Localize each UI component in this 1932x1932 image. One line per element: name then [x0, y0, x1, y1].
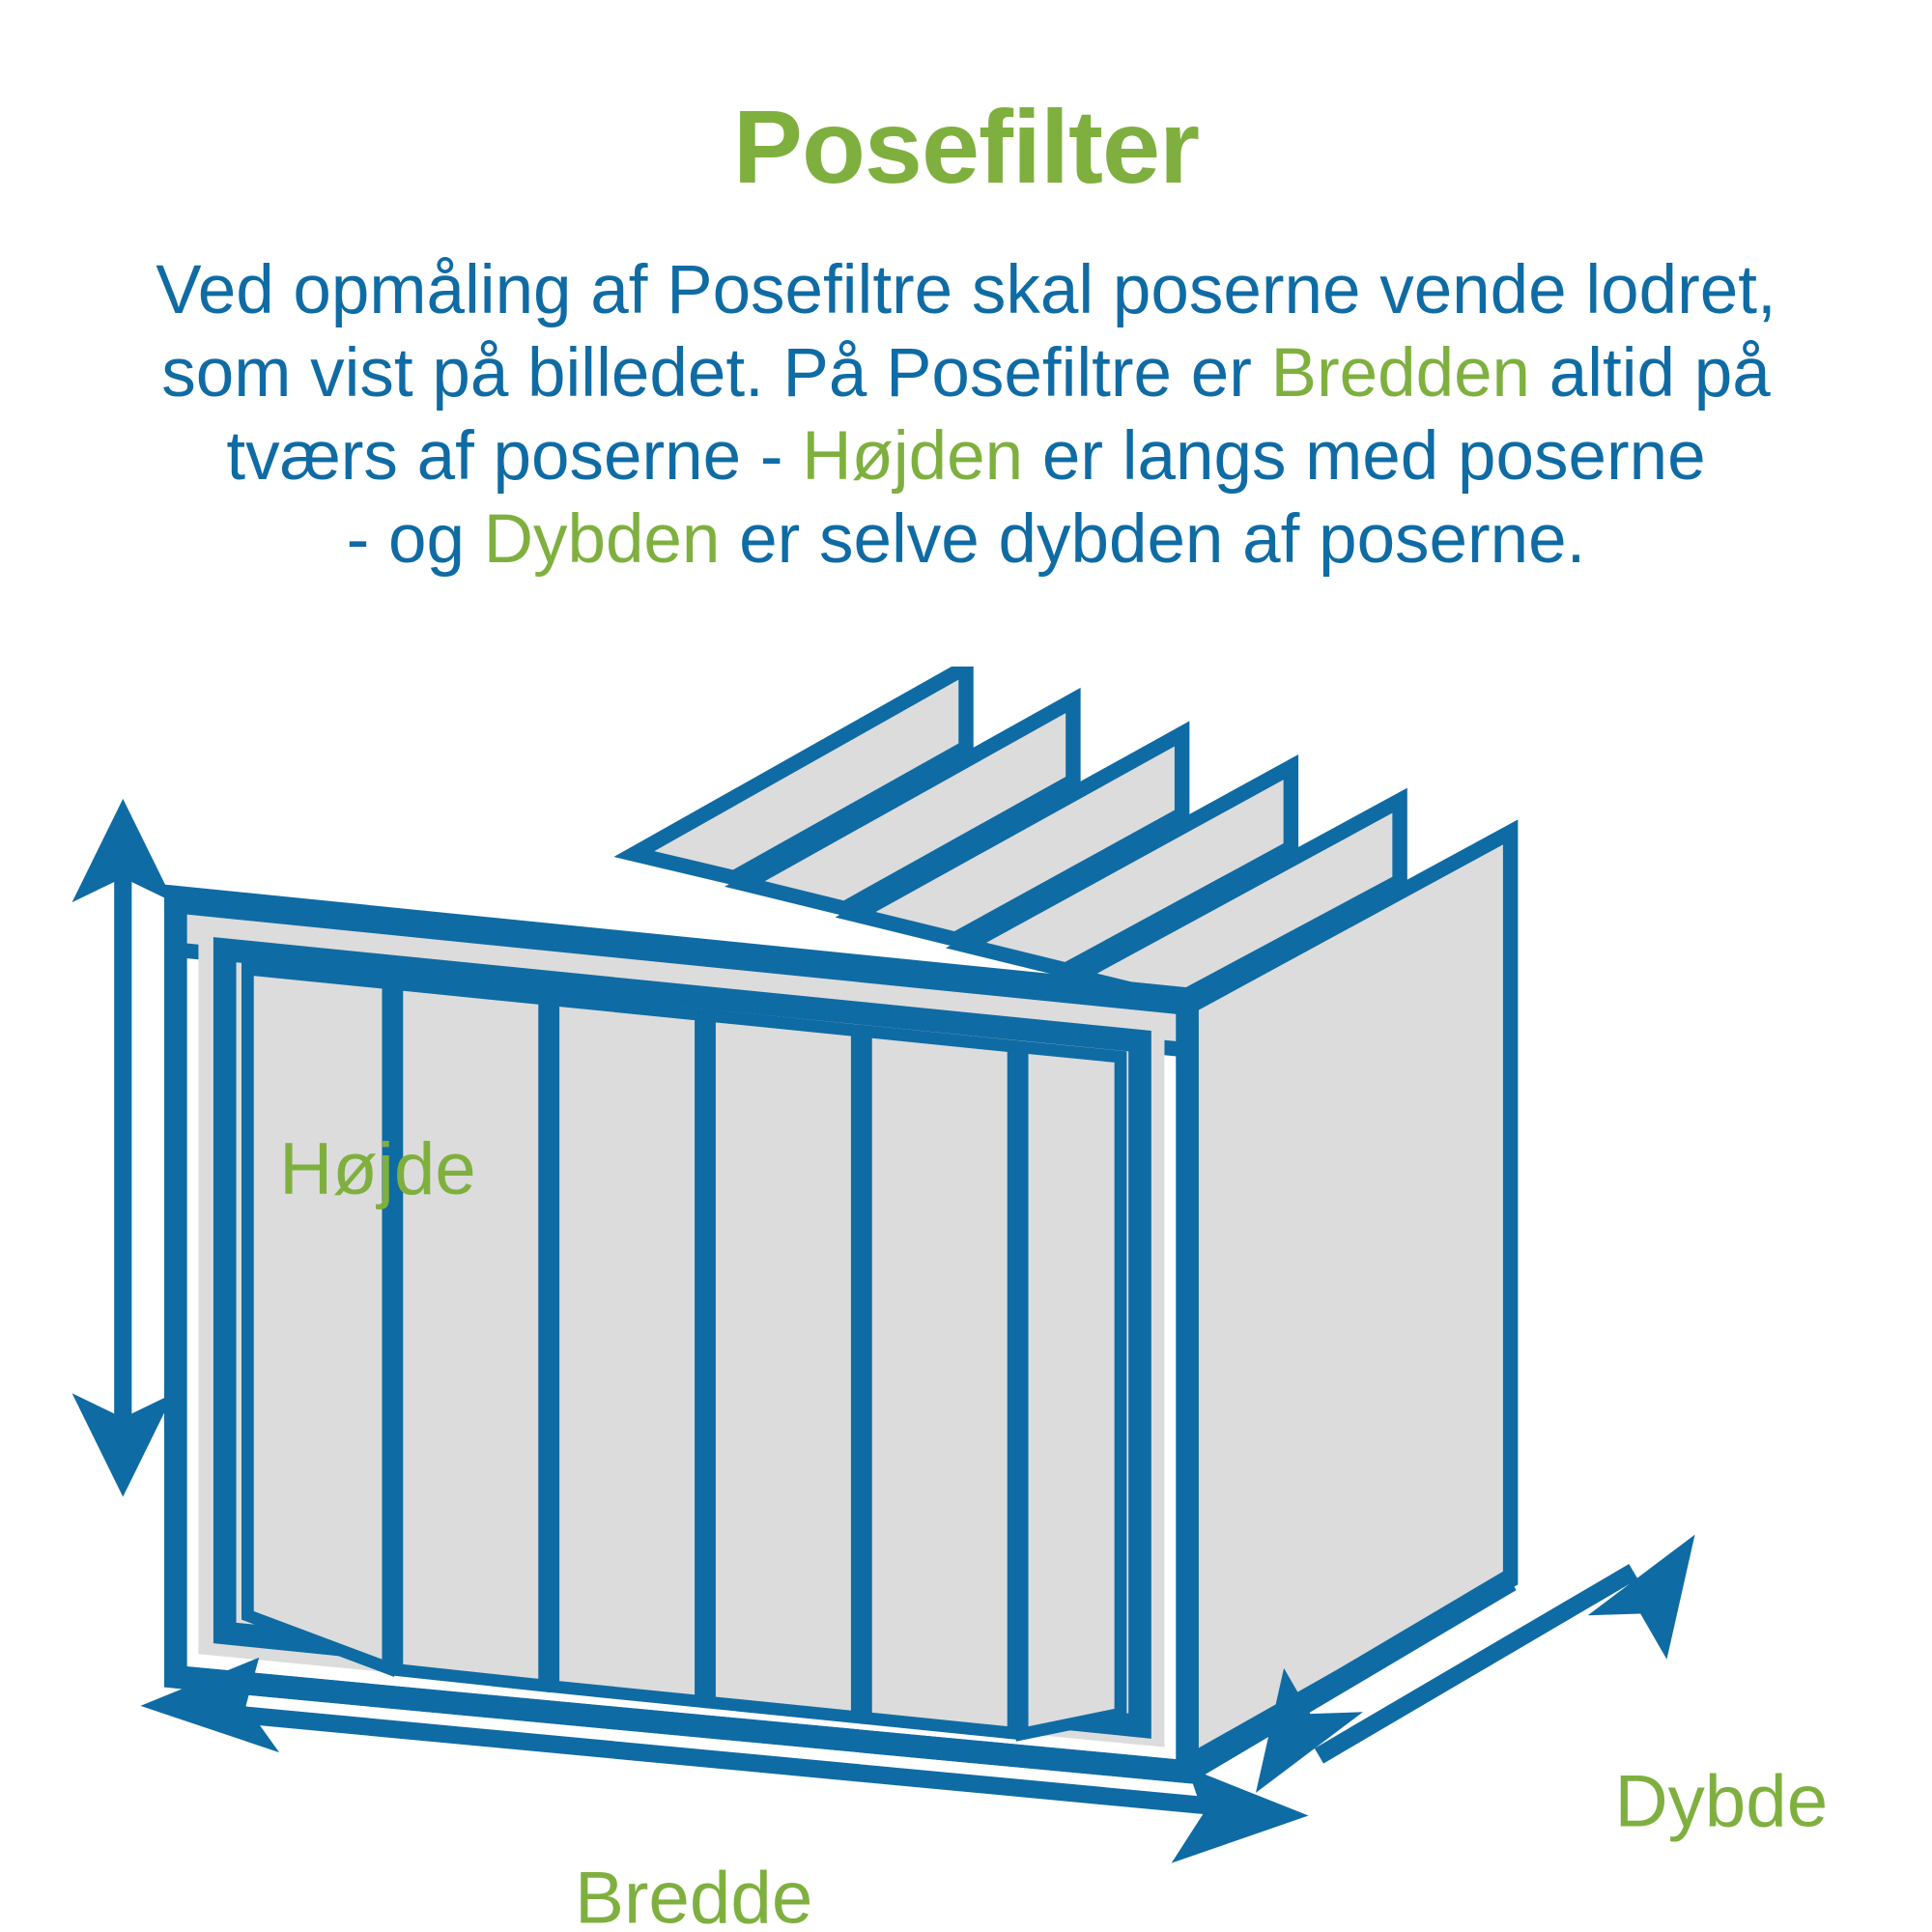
pocket-front-2	[397, 984, 545, 1686]
intro-line-4: - og Dybden er selve dybden af poserne.	[0, 498, 1932, 582]
filter-diagram: Højde Bredde Dybde	[0, 667, 1932, 1932]
intro-keyword: Dybden	[484, 501, 721, 578]
pocket-front-4	[710, 1015, 858, 1717]
intro-text: er langs med poserne	[1023, 418, 1705, 495]
intro-text: Ved opmåling af Posefiltre skal poserne …	[156, 252, 1776, 328]
poster-canvas: Posefilter Ved opmåling af Posefiltre sk…	[0, 0, 1932, 1932]
intro-line-1: Ved opmåling af Posefiltre skal poserne …	[0, 249, 1932, 332]
intro-line-3: tværs af poserne - Højden er langs med p…	[0, 415, 1932, 498]
intro-line-2: som vist på billedet. På Posefiltre er B…	[0, 332, 1932, 415]
intro-keyword: Bredden	[1271, 335, 1530, 412]
height-dimension	[72, 799, 174, 1497]
page-title: Posefilter	[0, 0, 1932, 199]
header-block: Posefilter Ved opmåling af Posefiltre sk…	[0, 0, 1932, 582]
depth-label: Dybde	[1614, 1760, 1828, 1842]
intro-text: altid på	[1530, 335, 1771, 412]
pocket-front-3	[554, 1000, 701, 1701]
pocket-filter-illustration: Højde Bredde Dybde	[0, 667, 1932, 1932]
intro-text: er selve dybden af poserne.	[720, 501, 1585, 578]
pocket-front-6	[1022, 1047, 1121, 1734]
pocket-front-panels	[247, 969, 1121, 1734]
intro-text: som vist på billedet. På Posefiltre er	[161, 335, 1270, 412]
pocket-front-5	[866, 1032, 1013, 1733]
filter-body	[176, 667, 1511, 1772]
intro-keyword: Højden	[802, 418, 1023, 495]
height-label: Højde	[279, 1128, 476, 1210]
intro-text: tværs af poserne -	[226, 418, 802, 495]
pocket-front-1	[247, 969, 387, 1668]
intro-text: - og	[347, 501, 484, 578]
intro-paragraph: Ved opmåling af Posefiltre skal poserne …	[0, 199, 1932, 582]
width-label: Bredde	[575, 1857, 812, 1932]
